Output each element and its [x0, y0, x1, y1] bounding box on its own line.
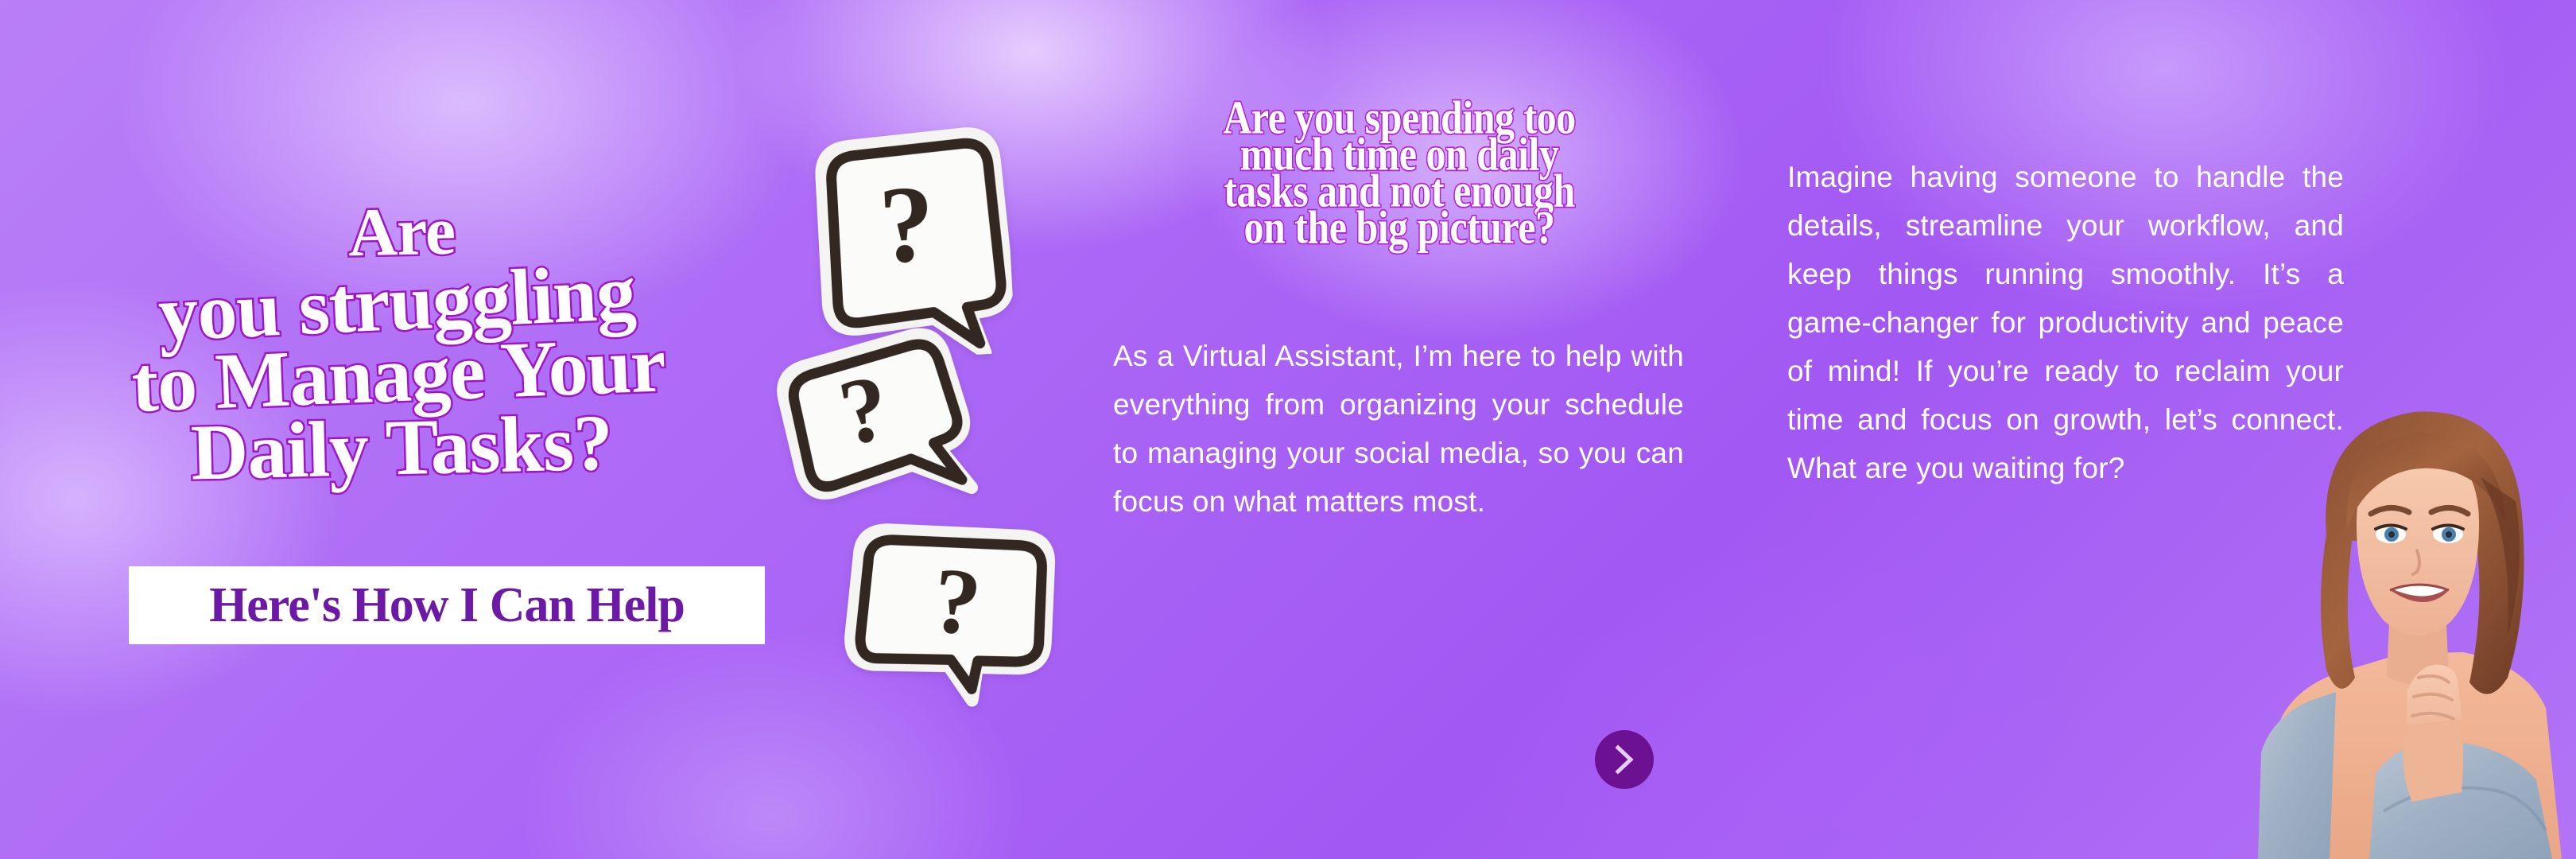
middle-body-paragraph: As a Virtual Assistant, I’m here to help… — [1113, 332, 1684, 526]
next-arrow-button[interactable] — [1595, 730, 1654, 789]
middle-column: Are you spending too much time on daily … — [1113, 0, 1686, 859]
question-speech-bubble-2: ? — [762, 317, 994, 542]
question-speech-bubble-3: ? — [834, 511, 1067, 715]
left-column: Are you struggling to Manage Your Daily … — [0, 0, 795, 859]
middle-heading-line-4: on the big picture? — [1121, 209, 1678, 246]
chevron-right-icon — [1611, 744, 1638, 775]
speech-bubble-group: ? ? ? — [779, 119, 1129, 819]
middle-heading: Are you spending too much time on daily … — [1121, 99, 1678, 246]
cta-button[interactable]: Here's How I Can Help — [129, 566, 765, 644]
cta-button-label: Here's How I Can Help — [209, 577, 685, 634]
question-mark-glyph: ? — [876, 161, 937, 286]
main-headline: Are you struggling to Manage Your Daily … — [32, 199, 771, 486]
promo-banner: Are you struggling to Manage Your Daily … — [0, 0, 2576, 859]
person-photo — [2250, 366, 2576, 859]
